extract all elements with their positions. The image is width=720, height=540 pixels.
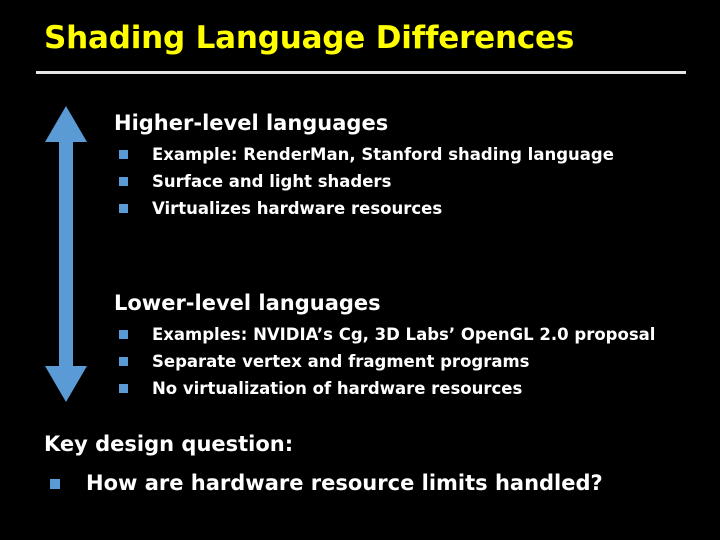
section-lower-level-languages: Lower-level languages Examples: NVIDIA’s… (114, 290, 655, 402)
square-bullet-icon (119, 384, 128, 393)
list-item-label: Example: RenderMan, Stanford shading lan… (152, 145, 614, 164)
list-item-label: How are hardware resource limits handled… (86, 471, 603, 495)
section-key-design-question: Key design question: How are hardware re… (44, 431, 684, 497)
list-item: Virtualizes hardware resources (114, 195, 614, 222)
list-item: Surface and light shaders (114, 168, 614, 195)
slide-canvas: Shading Language Differences Higher-leve… (0, 0, 720, 540)
list-item-label: Virtualizes hardware resources (152, 199, 442, 218)
list-item-label: Surface and light shaders (152, 172, 391, 191)
list-item-label: Separate vertex and fragment programs (152, 352, 530, 371)
list-item: How are hardware resource limits handled… (44, 469, 684, 497)
page-title: Shading Language Differences (44, 18, 684, 58)
section-heading: Lower-level languages (114, 290, 655, 316)
bullet-list: How are hardware resource limits handled… (44, 469, 684, 497)
square-bullet-icon (119, 357, 128, 366)
title-divider (36, 71, 686, 74)
square-bullet-icon (119, 177, 128, 186)
list-item: Examples: NVIDIA’s Cg, 3D Labs’ OpenGL 2… (114, 321, 655, 348)
section-heading: Higher-level languages (114, 110, 614, 136)
list-item: No virtualization of hardware resources (114, 375, 655, 402)
list-item-label: Examples: NVIDIA’s Cg, 3D Labs’ OpenGL 2… (152, 325, 655, 344)
list-item: Example: RenderMan, Stanford shading lan… (114, 141, 614, 168)
double-headed-vertical-arrow-icon (42, 106, 90, 402)
square-bullet-icon (119, 204, 128, 213)
bullet-list: Example: RenderMan, Stanford shading lan… (114, 141, 614, 222)
section-higher-level-languages: Higher-level languages Example: RenderMa… (114, 110, 614, 222)
square-bullet-icon (119, 150, 128, 159)
list-item-label: No virtualization of hardware resources (152, 379, 522, 398)
section-heading: Key design question: (44, 431, 684, 458)
list-item: Separate vertex and fragment programs (114, 348, 655, 375)
bullet-list: Examples: NVIDIA’s Cg, 3D Labs’ OpenGL 2… (114, 321, 655, 402)
square-bullet-icon (119, 330, 128, 339)
square-bullet-icon (50, 479, 60, 489)
